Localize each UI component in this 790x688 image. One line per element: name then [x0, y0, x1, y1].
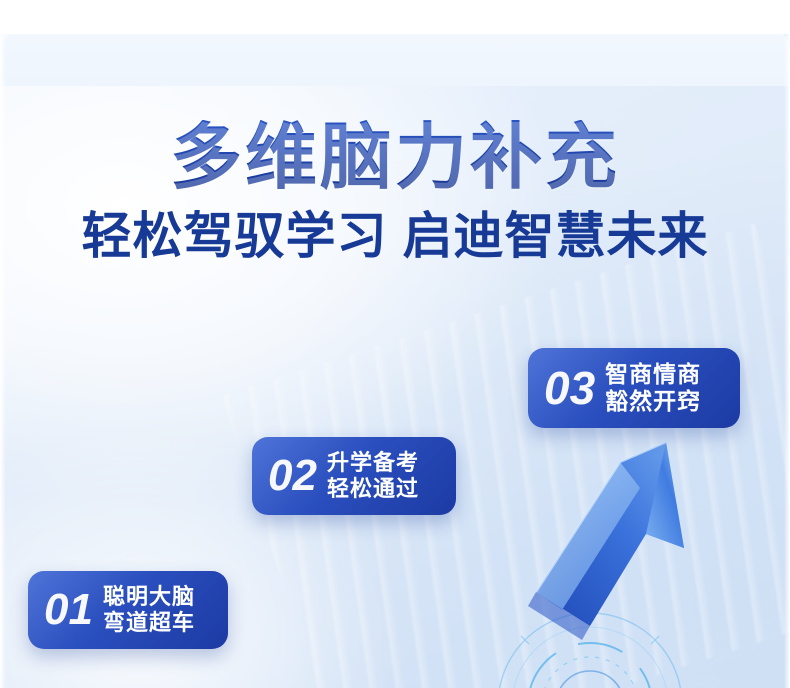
badge-03: 03 智商情商 豁然开窍: [528, 348, 740, 428]
right-edge-fade: [784, 0, 790, 688]
badge-03-number: 03: [544, 365, 595, 411]
promo-poster: 多维脑力补充 轻松驾驭学习 启迪智慧未来 03 智商情商 豁然开窍 02 升学备…: [0, 0, 790, 688]
badge-02-line1: 升学备考: [327, 450, 419, 476]
badge-01-number: 01: [44, 588, 93, 632]
left-edge-fade: [0, 0, 6, 688]
page-title: 多维脑力补充: [0, 120, 790, 198]
badge-02-line2: 轻松通过: [327, 476, 419, 502]
badge-02-number: 02: [268, 454, 317, 498]
badge-02: 02 升学备考 轻松通过: [252, 437, 456, 515]
badge-01-text: 聪明大脑 弯道超车: [103, 584, 195, 636]
badge-03-text: 智商情商 豁然开窍: [605, 361, 701, 415]
rising-arrow-graphic: [470, 430, 750, 688]
headline-block: 多维脑力补充 轻松驾驭学习 启迪智慧未来: [0, 120, 790, 265]
badge-03-line1: 智商情商: [605, 361, 701, 388]
badge-01-line1: 聪明大脑: [103, 584, 195, 610]
badge-01: 01 聪明大脑 弯道超车: [28, 571, 228, 649]
badge-01-line2: 弯道超车: [103, 610, 195, 636]
page-subtitle: 轻松驾驭学习 启迪智慧未来: [0, 208, 790, 266]
badge-03-line2: 豁然开窍: [605, 388, 701, 415]
card-rounded-edge: [0, 26, 790, 56]
badge-02-text: 升学备考 轻松通过: [327, 450, 419, 502]
